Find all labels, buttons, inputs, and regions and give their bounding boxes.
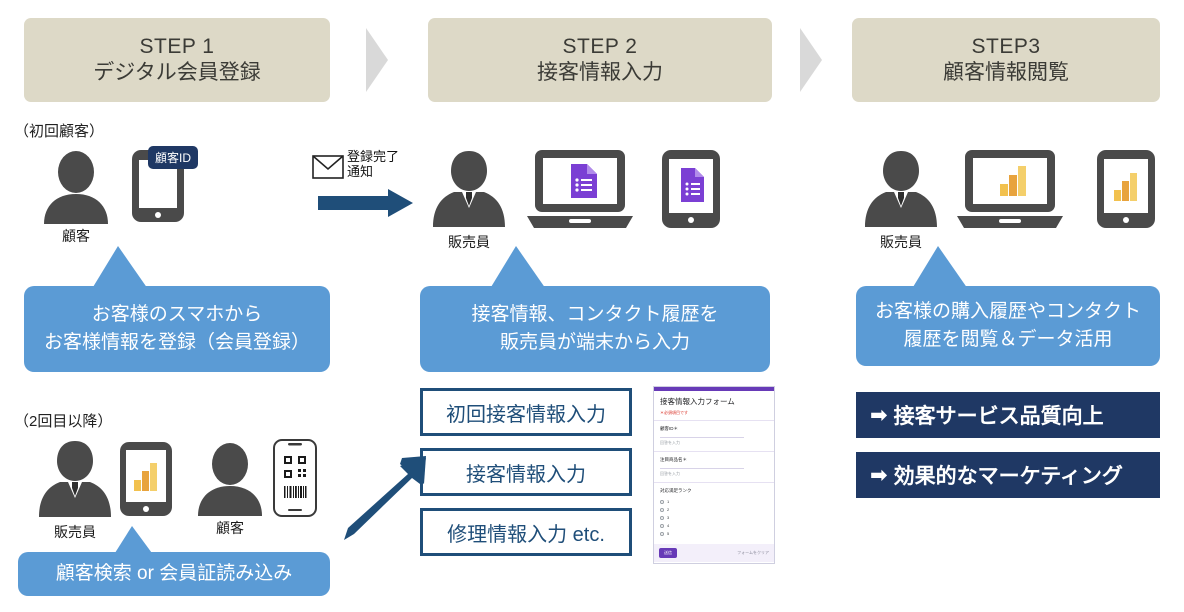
form-rating-option[interactable]: 4 — [660, 523, 768, 528]
mail-note-line2: 通知 — [347, 165, 399, 180]
radio-icon — [660, 500, 664, 504]
step-1-title: デジタル会員登録 — [93, 60, 261, 86]
form-q2-label: 注目商品名＊ — [660, 457, 768, 463]
form-title: 接客情報入力フォーム — [654, 391, 774, 410]
mail-icon — [312, 155, 344, 179]
step2-callout: 接客情報、コンタクト履歴を 販売員が端末から入力 — [420, 286, 770, 372]
step3-banner-marketing: ➡ 効果的なマーケティング — [856, 452, 1160, 498]
step1-callout-line1: お客様のスマホから — [92, 301, 262, 329]
form-q1-placeholder: 回答を入力 — [660, 440, 768, 446]
step-2-title: 接客情報入力 — [537, 60, 663, 86]
first-time-customer-label: （初回顧客） — [14, 120, 104, 141]
customer-icon-repeat — [190, 440, 270, 520]
laptop-forms-icon — [525, 148, 635, 230]
chevron-2-icon — [800, 28, 822, 92]
form-rating-label: 対応満足ランク — [660, 488, 768, 494]
step2-box-repair-input[interactable]: 修理情報入力 etc. — [420, 508, 632, 556]
form-q1-label: 顧客ID＊ — [660, 426, 768, 432]
step-3-number: STEP3 — [971, 34, 1040, 60]
form-rating-option[interactable]: 2 — [660, 507, 768, 512]
step-3-title: 顧客情報閲覧 — [943, 60, 1069, 86]
salesperson-icon-step3 — [862, 148, 940, 230]
step-header-3: STEP3 顧客情報閲覧 — [852, 18, 1160, 102]
repeat-customer-caption: 顧客 — [190, 518, 270, 538]
radio-icon — [660, 524, 664, 528]
step1-callout-line2: お客様情報を登録（会員登録） — [44, 329, 310, 357]
arrow-right-icon: ➡ — [870, 405, 888, 426]
step2-box-service-input[interactable]: 接客情報入力 — [420, 448, 632, 496]
form-q2-placeholder: 回答を入力 — [660, 471, 768, 477]
form-question-1: 顧客ID＊ 回答を入力 — [654, 421, 774, 451]
form-footer: 送信 フォームをクリア — [654, 544, 774, 562]
form-screenshot-thumbnail: 接客情報入力フォーム ＊必須項目です 顧客ID＊ 回答を入力 注目商品名＊ 回答… — [653, 386, 775, 564]
form-rating-option[interactable]: 1 — [660, 499, 768, 504]
step2-box-2-label: 接客情報入力 — [466, 458, 586, 487]
form-rating-option[interactable]: 3 — [660, 515, 768, 520]
step1-to-step2-arrow-icon — [318, 188, 414, 218]
chevron-1-icon — [366, 28, 388, 92]
salesperson-icon-step2 — [430, 148, 508, 230]
step-1-number: STEP 1 — [140, 34, 215, 60]
step2-box-first-input[interactable]: 初回接客情報入力 — [420, 388, 632, 436]
step3-banner-2-label: 効果的なマーケティング — [894, 460, 1123, 490]
radio-icon — [660, 516, 664, 520]
step3-banner-1-label: 接客サービス品質向上 — [894, 400, 1104, 430]
step-header-1: STEP 1 デジタル会員登録 — [24, 18, 330, 102]
step3-banner-service-quality: ➡ 接客サービス品質向上 — [856, 392, 1160, 438]
step3-callout: お客様の購入履歴やコンタクト 履歴を閲覧＆データ活用 — [856, 286, 1160, 366]
form-q2-input[interactable] — [660, 468, 744, 469]
form-question-2: 注目商品名＊ 回答を入力 — [654, 452, 774, 482]
step2-callout-line2: 販売員が端末から入力 — [500, 329, 690, 357]
tablet-analytics-icon — [1095, 148, 1157, 230]
form-rating-option-label: 4 — [667, 523, 669, 528]
form-submit-button[interactable]: 送信 — [659, 548, 677, 558]
step2-box-3-label: 修理情報入力 etc. — [447, 518, 605, 547]
laptop-analytics-icon — [955, 148, 1065, 230]
form-rating-option-label: 5 — [667, 531, 669, 536]
registration-complete-note: 登録完了 通知 — [347, 150, 399, 180]
step2-callout-line1: 接客情報、コンタクト履歴を — [471, 301, 718, 329]
step-header-2: STEP 2 接客情報入力 — [428, 18, 772, 102]
form-required-note: ＊必須項目です — [654, 410, 774, 420]
step-2-number: STEP 2 — [563, 34, 638, 60]
form-rating-option-label: 2 — [667, 507, 669, 512]
form-rating-option[interactable]: 5 — [660, 531, 768, 536]
repeat-callout-label: 顧客検索 or 会員証読み込み — [56, 560, 292, 588]
salesperson-icon-repeat — [36, 438, 114, 520]
form-rating-option-label: 1 — [667, 499, 669, 504]
repeat-callout: 顧客検索 or 会員証読み込み — [18, 552, 330, 596]
form-rating-question: 対応満足ランク 1 2 3 4 5 — [654, 483, 774, 544]
tablet-analytics-icon-repeat — [118, 440, 174, 518]
customer-id-badge: 顧客ID — [148, 146, 198, 169]
process-diagram: STEP 1 デジタル会員登録 STEP 2 接客情報入力 STEP3 顧客情報… — [0, 0, 1184, 612]
customer-icon — [36, 148, 116, 228]
step1-customer-caption: 顧客 — [36, 226, 116, 246]
radio-icon — [660, 532, 664, 536]
step3-callout-line2: 履歴を閲覧＆データ活用 — [903, 326, 1112, 354]
mail-note-line1: 登録完了 — [347, 150, 399, 165]
membership-card-phone-icon — [272, 438, 318, 518]
tablet-forms-icon — [660, 148, 722, 230]
repeat-customer-label: （2回目以降） — [14, 410, 112, 431]
step3-callout-line1: お客様の購入履歴やコンタクト — [875, 298, 1141, 326]
radio-icon — [660, 508, 664, 512]
form-q1-input[interactable] — [660, 437, 744, 438]
form-rating-option-label: 3 — [667, 515, 669, 520]
form-clear-link[interactable]: フォームをクリア — [737, 550, 769, 556]
repeat-to-step2-arrow-icon — [330, 440, 440, 550]
arrow-right-icon: ➡ — [870, 465, 888, 486]
step2-box-1-label: 初回接客情報入力 — [446, 398, 606, 427]
step1-callout: お客様のスマホから お客様情報を登録（会員登録） — [24, 286, 330, 372]
